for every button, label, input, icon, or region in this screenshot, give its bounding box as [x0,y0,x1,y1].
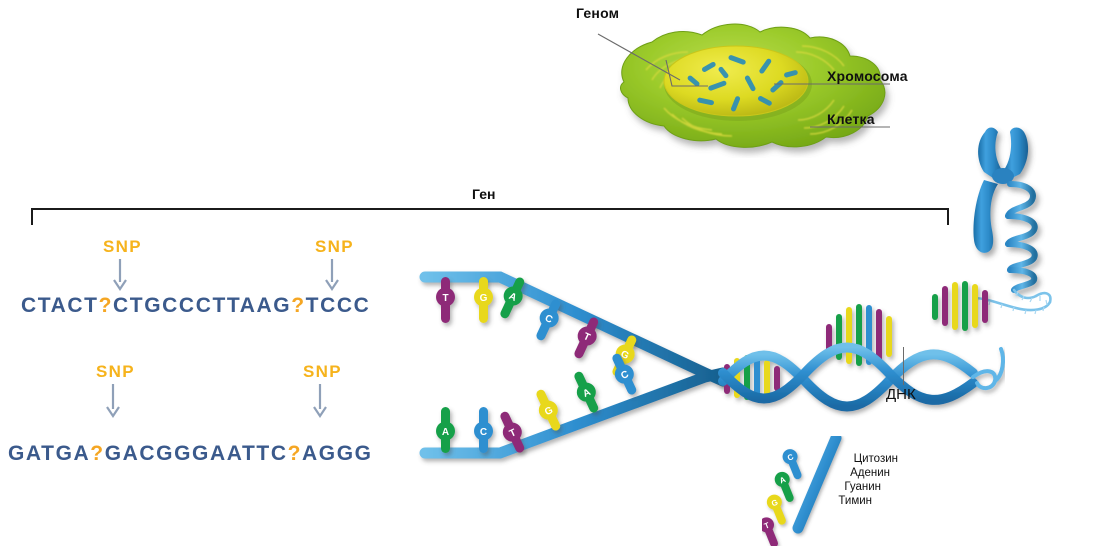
snp-tag-bottom-1: SNP [96,362,135,382]
dna-bottom-backbone [425,373,723,453]
double-helix [723,284,1003,407]
legend-item-adenine: Аденин [850,466,890,480]
seq-top-part-1: CTACT [21,294,99,317]
snp-tag-bottom-2: SNP [303,362,342,382]
label-gene: Ген [472,186,495,202]
base-G: G [474,277,493,323]
snp-arrow-top-2 [312,258,352,297]
snp-arrow-bottom-1 [93,383,133,424]
legend-item-cytosine: Цитозин [854,452,898,466]
seq-bottom-part-2: GACGGGAATTC [105,442,288,465]
seq-top-part-3: TCCC [306,294,371,317]
legend-item-thymine: Тимин [838,494,872,508]
gene-bracket-line [31,208,949,210]
helix-tail [973,349,1003,388]
legend-item-guanine: Гуанин [844,480,881,494]
seq-top-part-2: CTGCCCTTAAG [113,294,291,317]
snp-arrow-bottom-2 [300,383,340,424]
sequence-bottom: GATGA?GACGGGAATTC?AGGG [8,442,373,466]
base-T: T [436,277,455,323]
label-genome: Геном [576,5,619,21]
chromatin-coil [1008,184,1035,290]
gene-bracket-tick-left [31,208,33,225]
svg-text:T: T [442,293,448,304]
dna-top-backbone [425,277,723,381]
sequence-top: CTACT?CTGCCCTTAAG?TCCC [21,294,370,318]
legend-labels: Цитозин Аденин Гуанин Тимин [760,452,898,508]
dna-leader [903,347,904,385]
snp-tag-top-2: SNP [315,237,354,257]
svg-text:A: A [442,427,449,438]
base-C-b: C [474,407,493,453]
seq-bottom-snp-2: ? [288,442,302,465]
seq-bottom-part-3: AGGG [302,442,373,465]
dna-illustration: T G A C [405,255,1005,470]
label-dna: ДНК [886,386,916,403]
seq-top-snp-1: ? [99,294,113,317]
seq-bottom-snp-1: ? [90,442,104,465]
gene-bracket-tick-right [947,208,949,225]
figure-canvas: Геном Хромосома Клетка [0,0,1097,557]
cell-diagram-svg [560,8,980,158]
label-chromosome: Хромосома [827,68,908,84]
base-A-b2: A [568,368,604,416]
seq-top-snp-2: ? [291,294,305,317]
dna-svg: T G A C [405,255,1005,470]
svg-text:G: G [480,293,488,304]
snp-arrow-top-1 [100,258,140,297]
helix-rungs [727,284,985,397]
label-cell: Клетка [827,111,875,127]
base-A-b: A [436,407,455,453]
seq-bottom-part-1: GATGA [8,442,90,465]
svg-text:C: C [480,427,487,438]
snp-tag-top-1: SNP [103,237,142,257]
cell-diagram [560,8,980,158]
